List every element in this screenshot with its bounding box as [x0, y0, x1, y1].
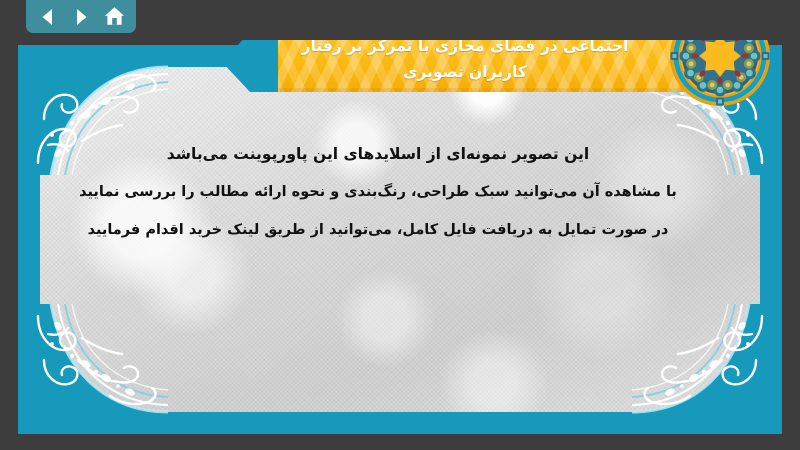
- next-button[interactable]: [69, 5, 93, 29]
- slide-line-2: با مشاهده آن می‌توانید سبک طراحی، رنگ‌بن…: [58, 173, 698, 211]
- home-icon: [103, 5, 126, 28]
- slide-line-3: در صورت تمایل به دریافت فایل کامل، می‌تو…: [58, 211, 698, 249]
- slide-canvas: این تصویر نمونه‌ای از اسلایدهای این پاور…: [18, 45, 782, 434]
- home-button[interactable]: [102, 5, 126, 29]
- slide-body-text: این تصویر نمونه‌ای از اسلایدهای این پاور…: [58, 135, 698, 249]
- navigation-button-group: [26, 0, 136, 33]
- previous-button[interactable]: [36, 5, 60, 29]
- top-chrome-bar: [0, 0, 800, 40]
- triangle-right-icon: [70, 6, 92, 28]
- triangle-left-icon: [37, 6, 59, 28]
- slide-viewer: این تصویر نمونه‌ای از اسلایدهای این پاور…: [0, 0, 800, 450]
- slide-line-1: این تصویر نمونه‌ای از اسلایدهای این پاور…: [58, 135, 698, 173]
